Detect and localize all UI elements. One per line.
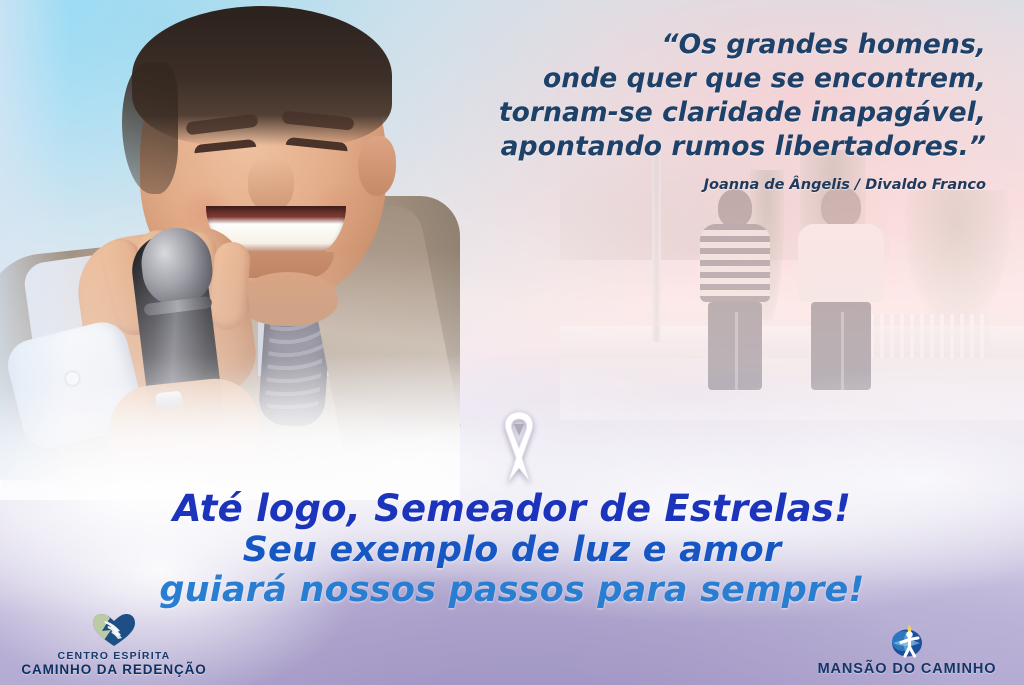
globe-figure-icon	[887, 624, 927, 658]
headline-block: Até logo, Semeador de Estrelas! Seu exem…	[0, 487, 1024, 610]
quote-line-4: apontando rumos libertadores.”	[366, 130, 986, 164]
photo-person	[700, 189, 770, 390]
photo-person-head	[718, 189, 752, 227]
logo-left-line-1: CENTRO ESPÍRITA	[14, 650, 214, 662]
photo-person-head	[821, 187, 861, 227]
headline-line-1: Até logo, Semeador de Estrelas!	[0, 487, 1024, 530]
quote-attribution: Joanna de Ângelis / Divaldo Franco	[366, 177, 986, 193]
logo-left-line-2: CAMINHO DA REDENÇÃO	[14, 662, 214, 677]
quote-line-2: onde quer que se encontrem,	[366, 62, 986, 96]
quote-line-3: tornam-se claridade inapagável,	[366, 96, 986, 130]
quote-block: “Os grandes homens, onde quer que se enc…	[366, 28, 986, 193]
photo-palm-tree	[902, 190, 1012, 330]
heart-hands-icon	[92, 613, 136, 647]
photo-person	[798, 187, 884, 390]
photo-person-torso	[700, 224, 770, 302]
photo-person-legs	[811, 302, 871, 390]
quote-line-1: “Os grandes homens,	[366, 28, 986, 62]
logo-mansao-do-caminho[interactable]: MANSÃO DO CAMINHO	[800, 624, 1014, 677]
nose	[248, 158, 294, 212]
photo-fence	[870, 314, 990, 362]
portrait-fade-left	[0, 0, 70, 480]
logo-centro-espirita[interactable]: CENTRO ESPÍRITA CAMINHO DA REDENÇÃO	[14, 613, 214, 677]
headline-line-3: guiará nossos passos para sempre!	[0, 570, 1024, 610]
photo-person-legs	[708, 302, 762, 390]
hair-side	[122, 62, 178, 194]
mourning-ribbon-icon	[488, 408, 550, 486]
logo-right-name: MANSÃO DO CAMINHO	[800, 661, 1014, 677]
memorial-poster: “Os grandes homens, onde quer que se enc…	[0, 0, 1024, 685]
photo-person-torso	[798, 224, 884, 302]
headline-line-2: Seu exemplo de luz e amor	[0, 530, 1024, 570]
photo-ground	[560, 358, 1024, 420]
